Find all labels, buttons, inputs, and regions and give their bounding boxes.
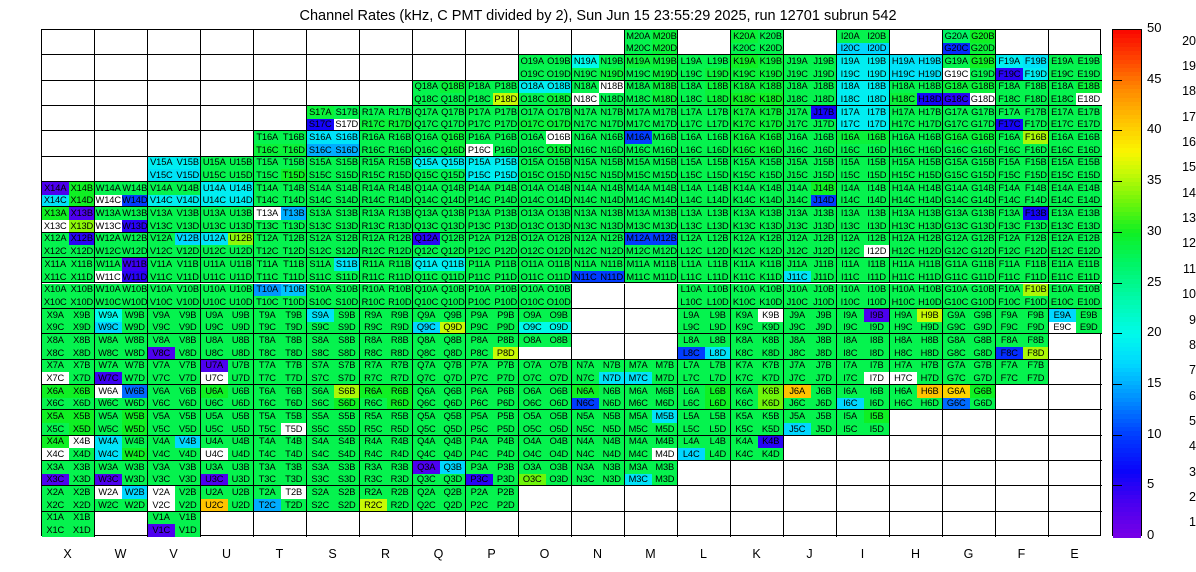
channel-O5C: O5C — [519, 423, 546, 436]
x-axis-tick-U: U — [200, 547, 253, 561]
channel-K14C: K14C — [731, 195, 758, 208]
channel-X4D: X4D — [69, 448, 96, 461]
channel-N12A: N12A — [572, 233, 599, 246]
grid-cell-T20 — [254, 30, 307, 55]
channel-F11D: F11D — [1023, 271, 1050, 284]
channel-L19A: L19A — [678, 55, 705, 68]
channel-F14A: F14A — [996, 182, 1023, 195]
channel-I6A: I6A — [837, 385, 864, 398]
channel-J6A: J6A — [784, 385, 811, 398]
channel-P16D: P16D — [493, 144, 520, 157]
channel-W6A: W6A — [95, 385, 122, 398]
channel-I19C: I19C — [837, 68, 864, 81]
channel-V2A: V2A — [148, 486, 175, 499]
channel-W2D: W2D — [122, 499, 149, 512]
channel-M18A: M18A — [625, 81, 652, 94]
channel-M4A: M4A — [625, 436, 652, 449]
channel-P11C: P11C — [466, 271, 493, 284]
grid-cell-O5: O5AO5BO5CO5D — [519, 410, 572, 435]
channel-K17C: K17C — [731, 119, 758, 132]
channel-H7C: H7C — [890, 372, 917, 385]
channel-E10B: E10B — [1076, 284, 1103, 297]
channel-K15C: K15C — [731, 169, 758, 182]
channel-K13A: K13A — [731, 207, 758, 220]
grid-cell-P7: P7AP7BP7CP7D — [466, 360, 519, 385]
channel-T12B: T12B — [281, 233, 308, 246]
channel-I9C: I9C — [837, 322, 864, 335]
grid-cell-W14: W14AW14BW14CW14D — [95, 182, 148, 207]
channel-G6B: G6B — [970, 385, 997, 398]
channel-F14B: F14B — [1023, 182, 1050, 195]
channel-T16C: T16C — [254, 144, 281, 157]
channel-I5D: I5D — [864, 423, 891, 436]
channel-L17C: L17C — [678, 119, 705, 132]
channel-E13A: E13A — [1049, 207, 1076, 220]
channel-I20A: I20A — [837, 30, 864, 43]
channel-T3B: T3B — [281, 461, 308, 474]
channel-J13D: J13D — [811, 220, 838, 233]
channel-N16C: N16C — [572, 144, 599, 157]
channel-S6C: S6C — [307, 398, 334, 411]
channel-Q2B: Q2B — [440, 486, 467, 499]
channel-L4C: L4C — [678, 448, 705, 461]
grid-cell-N4: N4AN4BN4CN4D — [572, 436, 625, 461]
grid-cell-T12: T12AT12BT12CT12D — [254, 233, 307, 258]
channel-J12B: J12B — [811, 233, 838, 246]
channel-I20C: I20C — [837, 43, 864, 56]
channel-J17B: J17B — [811, 106, 838, 119]
grid-cell-W6: W6AW6BW6CW6D — [95, 385, 148, 410]
grid-cell-O18: O18AO18BO18CO18D — [519, 81, 572, 106]
channel-G15C: G15C — [943, 169, 970, 182]
channel-I5C: I5C — [837, 423, 864, 436]
channel-H9D: H9D — [917, 322, 944, 335]
channel-I9B: I9B — [864, 309, 891, 322]
grid-cell-E10: E10AE10BE10CE10D — [1049, 284, 1102, 309]
channel-J19B: J19B — [811, 55, 838, 68]
channel-U5B: U5B — [228, 410, 255, 423]
grid-cell-G15: G15AG15BG15CG15D — [943, 157, 996, 182]
channel-I13D: I13D — [864, 220, 891, 233]
channel-N14B: N14B — [599, 182, 626, 195]
channel-G14A: G14A — [943, 182, 970, 195]
channel-G11A: G11A — [943, 258, 970, 271]
grid-cell-M20: M20AM20BM20CM20D — [625, 30, 678, 55]
grid-cell-E18: E18AE18BE18CE18D — [1049, 81, 1102, 106]
channel-J9D: J9D — [811, 322, 838, 335]
grid-cell-E8 — [1049, 334, 1102, 359]
channel-U9B: U9B — [228, 309, 255, 322]
channel-K17A: K17A — [731, 106, 758, 119]
channel-T2A: T2A — [254, 486, 281, 499]
channel-Q5C: Q5C — [413, 423, 440, 436]
channel-U5C: U5C — [201, 423, 228, 436]
channel-T11C: T11C — [254, 271, 281, 284]
channel-S8D: S8D — [334, 347, 361, 360]
channel-X9B: X9B — [69, 309, 96, 322]
channel-N19C: N19C — [572, 68, 599, 81]
grid-cell-E3 — [1049, 461, 1102, 486]
grid-cell-S12: S12AS12BS12CS12D — [307, 233, 360, 258]
channel-K16B: K16B — [758, 131, 785, 144]
grid-cell-W8: W8AW8BW8CW8D — [95, 334, 148, 359]
channel-J12C: J12C — [784, 245, 811, 258]
grid-cell-G18: G18AG18BG18CG18D — [943, 81, 996, 106]
channel-J15B: J15B — [811, 157, 838, 170]
channel-N5D: N5D — [599, 423, 626, 436]
grid-cell-L3 — [678, 461, 731, 486]
channel-N7A: N7A — [572, 360, 599, 373]
channel-L9D: L9D — [705, 322, 732, 335]
y-axis-tick-5: 5 — [1162, 414, 1196, 428]
channel-P5D: P5D — [493, 423, 520, 436]
channel-R2D: R2D — [387, 499, 414, 512]
channel-R4D: R4D — [387, 448, 414, 461]
channel-O17D: O17D — [546, 119, 573, 132]
x-axis-tick-V: V — [147, 547, 200, 561]
grid-cell-F16: F16AF16BF16CF16D — [996, 131, 1049, 156]
channel-N18C: N18C — [572, 93, 599, 106]
channel-V5D: V5D — [175, 423, 202, 436]
channel-E19D: E19D — [1076, 68, 1103, 81]
grid-cell-H17: H17AH17BH17CH17D — [890, 106, 943, 131]
channel-K17B: K17B — [758, 106, 785, 119]
channel-G12C: G12C — [943, 245, 970, 258]
grid-cell-F14: F14AF14BF14CF14D — [996, 182, 1049, 207]
channel-L9A: L9A — [678, 309, 705, 322]
channel-M7A: M7A — [625, 360, 652, 373]
channel-F9D: F9D — [1023, 322, 1050, 335]
grid-cell-H11: H11AH11BH11CH11D — [890, 258, 943, 283]
channel-P16B: P16B — [493, 131, 520, 144]
channel-F15A: F15A — [996, 157, 1023, 170]
channel-N3D: N3D — [599, 474, 626, 487]
channel-I7C: I7C — [837, 372, 864, 385]
channel-Q10D: Q10D — [440, 296, 467, 309]
channel-L16B: L16B — [705, 131, 732, 144]
channel-G17A: G17A — [943, 106, 970, 119]
channel-G11C: G11C — [943, 271, 970, 284]
channel-F12B: F12B — [1023, 233, 1050, 246]
channel-K5B: K5B — [758, 410, 785, 423]
grid-cell-G20: G20AG20BG20CG20D — [943, 30, 996, 55]
grid-cell-V17 — [148, 106, 201, 131]
channel-P2A: P2A — [466, 486, 493, 499]
channel-O3A: O3A — [519, 461, 546, 474]
grid-cell-X1: X1AX1BX1CX1D — [42, 512, 95, 537]
channel-R16C: R16C — [360, 144, 387, 157]
channel-P15B: P15B — [493, 157, 520, 170]
channel-X6B: X6B — [69, 385, 96, 398]
channel-Q5A: Q5A — [413, 410, 440, 423]
channel-X9A: X9A — [42, 309, 69, 322]
channel-K6B: K6B — [758, 385, 785, 398]
channel-O14D: O14D — [546, 195, 573, 208]
channel-E19A: E19A — [1049, 55, 1076, 68]
channel-O14B: O14B — [546, 182, 573, 195]
channel-R3B: R3B — [387, 461, 414, 474]
grid-cell-M8 — [625, 334, 678, 359]
channel-K8D: K8D — [758, 347, 785, 360]
channel-G19D: G19D — [970, 68, 997, 81]
channel-Q12C: Q12C — [413, 245, 440, 258]
grid-cell-V3: V3AV3BV3CV3D — [148, 461, 201, 486]
grid-cell-R12: R12AR12BR12CR12D — [360, 233, 413, 258]
channel-U7A: U7A — [201, 360, 228, 373]
channel-Q10C: Q10C — [413, 296, 440, 309]
channel-G9B: G9B — [970, 309, 997, 322]
channel-W5A: W5A — [95, 410, 122, 423]
channel-W12A: W12A — [95, 233, 122, 246]
channel-Q8B: Q8B — [440, 334, 467, 347]
grid-cell-X14: X14AX14BX14CX14D — [42, 182, 95, 207]
channel-U8A: U8A — [201, 334, 228, 347]
channel-W4C: W4C — [95, 448, 122, 461]
channel-I16C: I16C — [837, 144, 864, 157]
grid-cell-N12: N12AN12BN12CN12D — [572, 233, 625, 258]
channel-L15C: L15C — [678, 169, 705, 182]
channel-G14D: G14D — [970, 195, 997, 208]
channel-E15B: E15B — [1076, 157, 1103, 170]
grid-cell-Q10: Q10AQ10BQ10CQ10D — [413, 284, 466, 309]
grid-cell-H1 — [890, 512, 943, 537]
channel-M14B: M14B — [652, 182, 679, 195]
grid-cell-P15: P15AP15BP15CP15D — [466, 157, 519, 182]
channel-Q9A: Q9A — [413, 309, 440, 322]
channel-U14C: U14C — [201, 195, 228, 208]
grid-cell-Q1 — [413, 512, 466, 537]
channel-Q15D: Q15D — [440, 169, 467, 182]
x-axis-tick-R: R — [359, 547, 412, 561]
channel-X14B: X14B — [69, 182, 96, 195]
channel-F12A: F12A — [996, 233, 1023, 246]
channel-H11D: H11D — [917, 271, 944, 284]
grid-cell-E11: E11AE11BE11CE11D — [1049, 258, 1102, 283]
channel-O7A: O7A — [519, 360, 546, 373]
channel-W10D: W10D — [122, 296, 149, 309]
grid-cell-U11: U11AU11BU11CU11D — [201, 258, 254, 283]
channel-U4A: U4A — [201, 436, 228, 449]
channel-G15D: G15D — [970, 169, 997, 182]
channel-T10A: T10A — [254, 284, 281, 297]
channel-S8B: S8B — [334, 334, 361, 347]
grid-cell-U12: U12AU12BU12CU12D — [201, 233, 254, 258]
channel-S17D: S17D — [334, 119, 361, 132]
channel-V10B: V10B — [175, 284, 202, 297]
channel-P16A: P16A — [466, 131, 493, 144]
channel-F10D: F10D — [1023, 296, 1050, 309]
channel-Q11A: Q11A — [413, 258, 440, 271]
channel-T6C: T6C — [254, 398, 281, 411]
grid-cell-I11: I11AI11BI11CI11D — [837, 258, 890, 283]
channel-V15A: V15A — [148, 157, 175, 170]
channel-F18A: F18A — [996, 81, 1023, 94]
channel-T5C: T5C — [254, 423, 281, 436]
channel-I18A: I18A — [837, 81, 864, 94]
grid-cell-K14: K14AK14BK14CK14D — [731, 182, 784, 207]
grid-cell-J9: J9AJ9BJ9CJ9D — [784, 309, 837, 334]
channel-K13C: K13C — [731, 220, 758, 233]
channel-O6D: O6D — [546, 398, 573, 411]
grid-cell-O11: O11AO11BO11CO11D — [519, 258, 572, 283]
channel-X2A: X2A — [42, 486, 69, 499]
grid-cell-N9 — [572, 309, 625, 334]
channel-G6D: G6D — [970, 398, 997, 411]
channel-L4A: L4A — [678, 436, 705, 449]
channel-Q14D: Q14D — [440, 195, 467, 208]
grid-cell-J15: J15AJ15BJ15CJ15D — [784, 157, 837, 182]
channel-L10A: L10A — [678, 284, 705, 297]
channel-G9A: G9A — [943, 309, 970, 322]
grid-cell-U5: U5AU5BU5CU5D — [201, 410, 254, 435]
channel-G8C: G8C — [943, 347, 970, 360]
channel-I7A: I7A — [837, 360, 864, 373]
grid-cell-U4: U4AU4BU4CU4D — [201, 436, 254, 461]
channel-E14C: E14C — [1049, 195, 1076, 208]
channel-U12A: U12A — [201, 233, 228, 246]
channel-V14A: V14A — [148, 182, 175, 195]
channel-K4C: K4C — [731, 448, 758, 461]
channel-V6C: V6C — [148, 398, 175, 411]
channel-T12A: T12A — [254, 233, 281, 246]
channel-T14D: T14D — [281, 195, 308, 208]
y-axis-tick-11: 11 — [1162, 262, 1196, 276]
channel-M19D: M19D — [652, 68, 679, 81]
channel-X7A: X7A — [42, 360, 69, 373]
channel-M19C: M19C — [625, 68, 652, 81]
channel-Q2C: Q2C — [413, 499, 440, 512]
channel-E15C: E15C — [1049, 169, 1076, 182]
channel-L13A: L13A — [678, 207, 705, 220]
channel-Q17D: Q17D — [440, 119, 467, 132]
channel-Q18C: Q18C — [413, 93, 440, 106]
channel-L13C: L13C — [678, 220, 705, 233]
channel-X10A: X10A — [42, 284, 69, 297]
channel-K19A: K19A — [731, 55, 758, 68]
channel-M16A: M16A — [625, 131, 652, 144]
channel-T2D: T2D — [281, 499, 308, 512]
channel-F9A: F9A — [996, 309, 1023, 322]
channel-U11B: U11B — [228, 258, 255, 271]
channel-J10C: J10C — [784, 296, 811, 309]
channel-P11D: P11D — [493, 271, 520, 284]
channel-J19A: J19A — [784, 55, 811, 68]
channel-P16C: P16C — [466, 144, 493, 157]
grid-cell-G12: G12AG12BG12CG12D — [943, 233, 996, 258]
x-axis-tick-T: T — [253, 547, 306, 561]
channel-I14C: I14C — [837, 195, 864, 208]
channel-T13B: T13B — [281, 207, 308, 220]
channel-X10C: X10C — [42, 296, 69, 309]
channel-N7C: N7C — [572, 372, 599, 385]
channel-I10D: I10D — [864, 296, 891, 309]
channel-L13B: L13B — [705, 207, 732, 220]
channel-P7C: P7C — [466, 372, 493, 385]
channel-O11A: O11A — [519, 258, 546, 271]
channel-J5A: J5A — [784, 410, 811, 423]
channel-O7C: O7C — [519, 372, 546, 385]
channel-R17C: R17C — [360, 119, 387, 132]
channel-S14A: S14A — [307, 182, 334, 195]
channel-I5B: I5B — [864, 410, 891, 423]
channel-F17A: F17A — [996, 106, 1023, 119]
grid-cell-T4: T4AT4BT4CT4D — [254, 436, 307, 461]
channel-R8C: R8C — [360, 347, 387, 360]
channel-P5B: P5B — [493, 410, 520, 423]
channel-K11C: K11C — [731, 271, 758, 284]
channel-M15C: M15C — [625, 169, 652, 182]
channel-R12A: R12A — [360, 233, 387, 246]
channel-W8C: W8C — [95, 347, 122, 360]
grid-cell-K17: K17AK17BK17CK17D — [731, 106, 784, 131]
grid-cell-L19: L19AL19BL19CL19D — [678, 55, 731, 80]
channel-T5A: T5A — [254, 410, 281, 423]
grid-cell-W12: W12AW12BW12CW12D — [95, 233, 148, 258]
channel-H14D: H14D — [917, 195, 944, 208]
channel-U14A: U14A — [201, 182, 228, 195]
channel-N7B: N7B — [599, 360, 626, 373]
grid-cell-S9: S9AS9BS9CS9D — [307, 309, 360, 334]
channel-L10D: L10D — [705, 296, 732, 309]
channel-V14D: V14D — [175, 195, 202, 208]
colorbar-tick-label-45: 45 — [1147, 71, 1161, 86]
grid-cell-Q13: Q13AQ13BQ13CQ13D — [413, 207, 466, 232]
grid-cell-E9: E9AE9BE9CE9D — [1049, 309, 1102, 334]
channel-W13B: W13B — [122, 207, 149, 220]
channel-P17C: P17C — [466, 119, 493, 132]
channel-E11A: E11A — [1049, 258, 1076, 271]
grid-cell-Q18: Q18AQ18BQ18CQ18D — [413, 81, 466, 106]
grid-cell-L5: L5AL5BL5CL5D — [678, 410, 731, 435]
channel-V13D: V13D — [175, 220, 202, 233]
channel-I10B: I10B — [864, 284, 891, 297]
channel-U8B: U8B — [228, 334, 255, 347]
channel-H10B: H10B — [917, 284, 944, 297]
channel-T9C: T9C — [254, 322, 281, 335]
channel-Q12B: Q12B — [440, 233, 467, 246]
channel-I15C: I15C — [837, 169, 864, 182]
channel-S16C: S16C — [307, 144, 334, 157]
channel-M13A: M13A — [625, 207, 652, 220]
x-axis-tick-M: M — [624, 547, 677, 561]
channel-J14D: J14D — [811, 195, 838, 208]
channel-L11B: L11B — [705, 258, 732, 271]
grid-cell-U8: U8AU8BU8CU8D — [201, 334, 254, 359]
grid-cell-T2: T2AT2BT2CT2D — [254, 486, 307, 511]
channel-I7D: I7D — [864, 372, 891, 385]
grid-cell-Q17: Q17AQ17BQ17CQ17D — [413, 106, 466, 131]
channel-W7C: W7C — [95, 372, 122, 385]
channel-M19A: M19A — [625, 55, 652, 68]
grid-cell-N13: N13AN13BN13CN13D — [572, 207, 625, 232]
channel-X3B: X3B — [69, 461, 96, 474]
channel-U2A: U2A — [201, 486, 228, 499]
channel-V8B: V8B — [175, 334, 202, 347]
grid-cell-L15: L15AL15BL15CL15D — [678, 157, 731, 182]
channel-M4D: M4D — [652, 448, 679, 461]
channel-G10C: G10C — [943, 296, 970, 309]
channel-W10C: W10C — [95, 296, 122, 309]
channel-L8D: L8D — [705, 347, 732, 360]
channel-H15C: H15C — [890, 169, 917, 182]
channel-J15C: J15C — [784, 169, 811, 182]
grid-cell-L8: L8AL8BL8CL8D — [678, 334, 731, 359]
grid-cell-Q2: Q2AQ2BQ2CQ2D — [413, 486, 466, 511]
channel-L16D: L16D — [705, 144, 732, 157]
grid-cell-K11: K11AK11BK11CK11D — [731, 258, 784, 283]
channel-L6D: L6D — [705, 398, 732, 411]
channel-G17B: G17B — [970, 106, 997, 119]
